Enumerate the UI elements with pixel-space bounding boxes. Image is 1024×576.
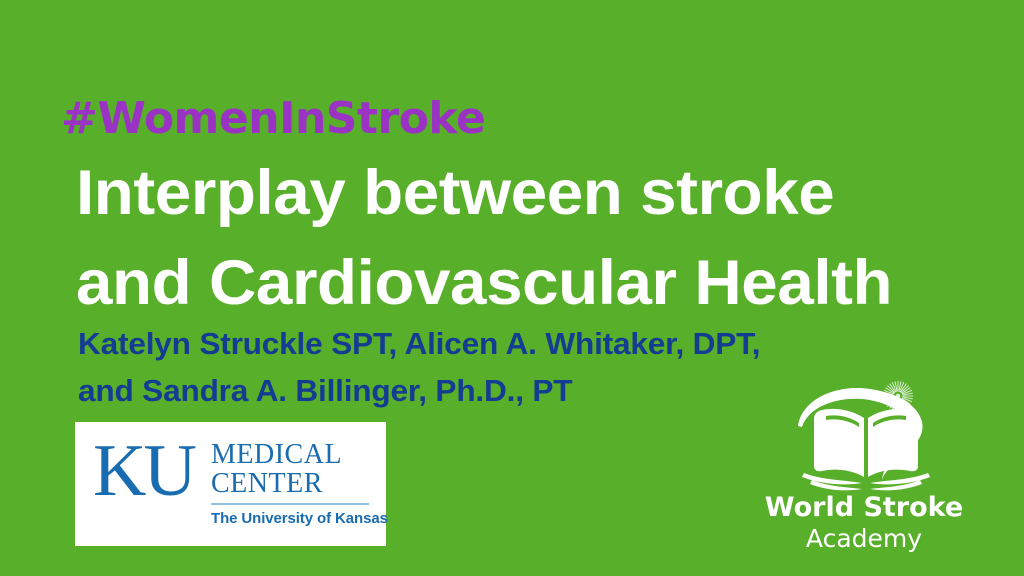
wsa-line-2: Academy: [748, 524, 980, 554]
wsa-line-1: World Stroke: [748, 492, 980, 524]
presentation-title-slide: #WomenInStroke Interplay between stroke …: [0, 0, 1024, 576]
title-line-2: and Cardiovascular Health: [76, 238, 1024, 328]
ku-monogram-text: KU: [93, 434, 194, 508]
title-line-1: Interplay between stroke: [76, 148, 1024, 238]
world-stroke-academy-logo: World Stroke Academy: [748, 380, 980, 552]
hashtag-text: #WomenInStroke: [61, 95, 485, 143]
authors-line-1: Katelyn Struckle SPT, Alicen A. Whitaker…: [78, 320, 1016, 367]
open-book-icon: [786, 380, 946, 494]
wsa-wordmark: World Stroke Academy: [748, 492, 980, 554]
ku-logo-content: KU MEDICAL CENTER The University of Kans…: [93, 438, 371, 530]
ku-word-medical: MEDICAL: [211, 440, 371, 469]
page-title: Interplay between stroke and Cardiovascu…: [76, 148, 996, 328]
ku-wordmark: MEDICAL CENTER The University of Kansas: [211, 440, 371, 527]
ku-medical-center-logo: KU MEDICAL CENTER The University of Kans…: [75, 422, 386, 546]
ku-word-center: CENTER: [211, 469, 371, 498]
ku-divider-rule: [211, 503, 369, 505]
ku-tagline-text: The University of Kansas: [211, 510, 371, 527]
